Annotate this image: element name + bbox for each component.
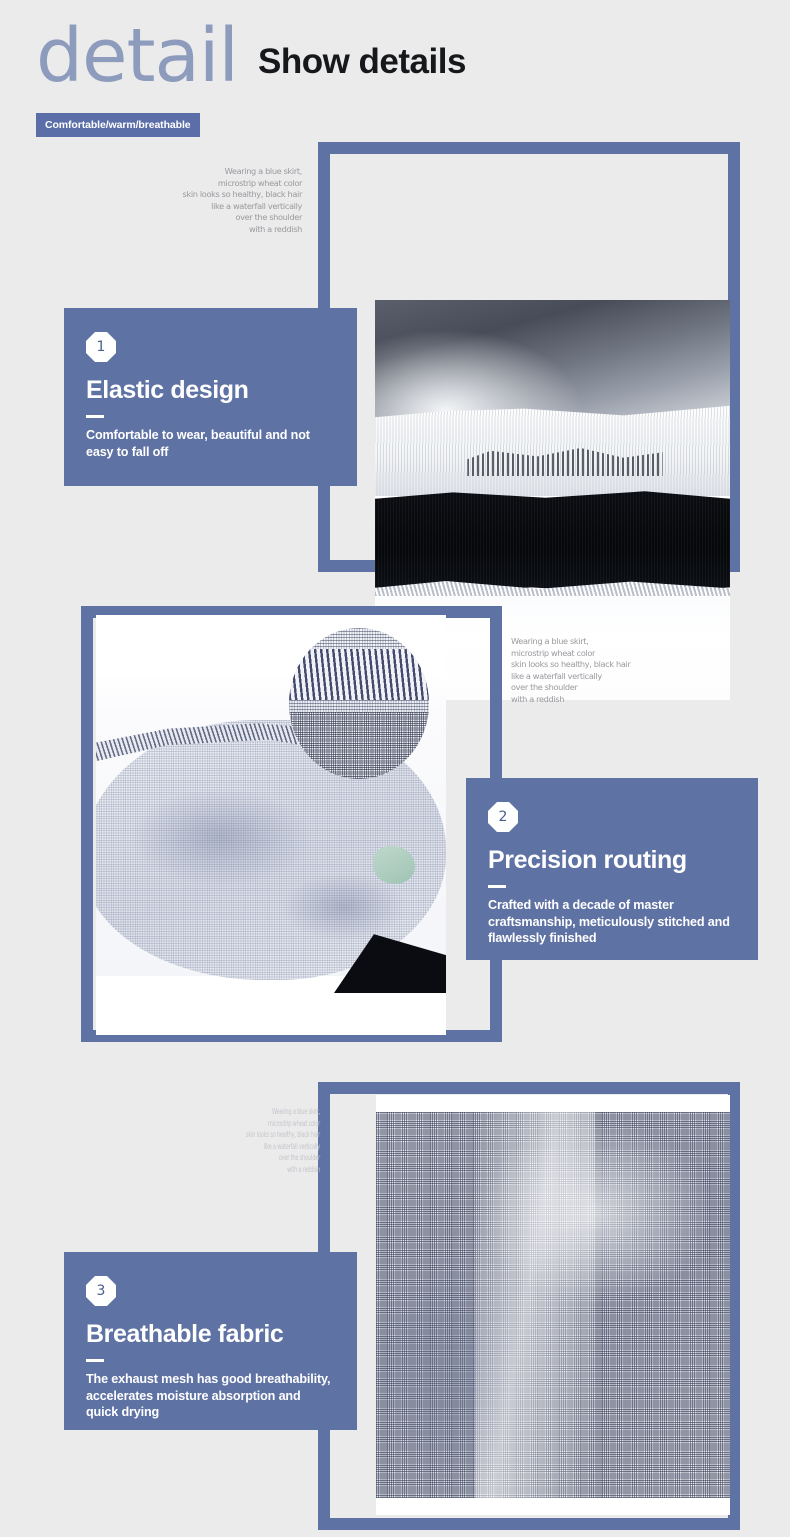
feature-title-1: Elastic design [86,376,335,405]
feature-description-1: Comfortable to wear, beautiful and not e… [86,427,335,460]
product-photo-3 [376,1095,730,1515]
feature-card-1: 1 Elastic design Comfortable to wear, be… [64,308,357,486]
section-caption-2: Wearing a blue skirt, microstrip wheat c… [511,636,721,706]
feature-number-2: 2 [488,802,518,832]
octagon-badge-icon-2: 2 [488,802,518,832]
tagline-badge: Comfortable/warm/breathable [36,113,200,137]
card-divider-2 [488,885,506,888]
feature-description-2: Crafted with a decade of master craftsma… [488,897,736,947]
page-header: detail Show details Comfortable/warm/bre… [0,0,790,145]
detail-watermark-text: detail [36,19,238,93]
photo-1-dark-band [375,488,730,596]
feature-number-1: 1 [86,332,116,362]
photo-1-fabric-top [375,300,730,424]
feature-card-3: 3 Breathable fabric The exhaust mesh has… [64,1252,357,1430]
photo-2-green-accent [373,846,415,884]
photo-2-magnifier-inset [289,628,429,779]
octagon-badge-icon-3: 3 [86,1276,116,1306]
feature-title-3: Breathable fabric [86,1320,335,1349]
feature-title-2: Precision routing [488,846,736,875]
feature-number-3: 3 [86,1276,116,1306]
section-caption-1: Wearing a blue skirt, microstrip wheat c… [102,166,302,236]
octagon-badge-icon-1: 1 [86,332,116,362]
feature-section-3: Wearing a blue skirt, microstrip wheat c… [0,1080,790,1537]
section-caption-3: Wearing a blue skirt, microstrip wheat c… [177,1106,320,1176]
feature-description-3: The exhaust mesh has good breathability,… [86,1371,335,1421]
photo-1-white-band [375,400,730,496]
feature-section-1: Wearing a blue skirt, microstrip wheat c… [0,140,790,580]
card-divider-1 [86,415,104,418]
page-title: Show details [258,42,466,82]
feature-card-2: 2 Precision routing Crafted with a decad… [466,778,758,960]
feature-section-2: Wearing a blue skirt, microstrip wheat c… [0,600,790,1050]
card-divider-3 [86,1359,104,1362]
photo-3-highlight-fold [475,1095,595,1515]
product-photo-2 [96,615,446,1035]
